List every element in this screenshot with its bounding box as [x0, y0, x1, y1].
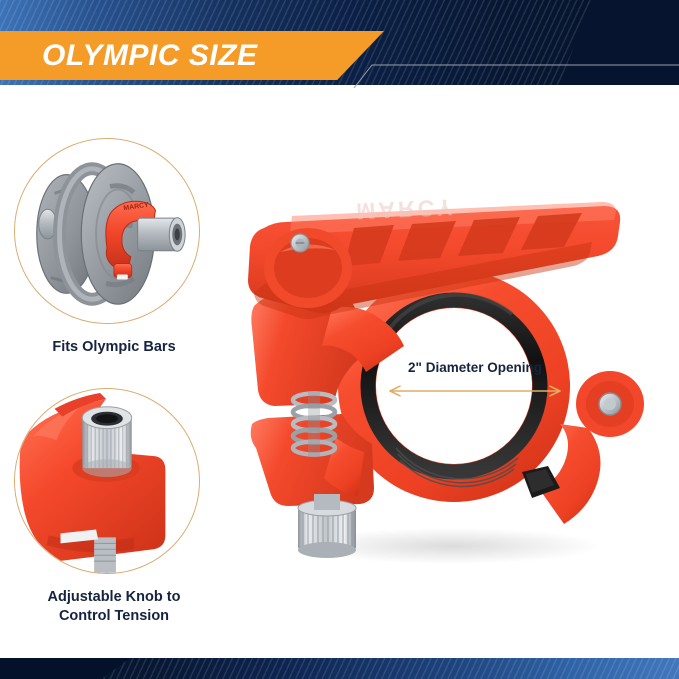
callout-image-1: MARCY: [15, 139, 199, 323]
infographic-page: OLYMPIC SIZE: [0, 0, 679, 679]
callout-2-label: Adjustable Knob to Control Tension: [14, 588, 214, 626]
callout-adjustable-knob: Adjustable Knob to Control Tension: [14, 388, 214, 626]
page-title: OLYMPIC SIZE: [42, 39, 257, 73]
callout-2-label-line1: Adjustable Knob to: [14, 588, 214, 607]
title-banner: OLYMPIC SIZE: [0, 31, 384, 80]
weight-plate-illustration: MARCY: [15, 139, 199, 323]
bottom-decorative-band: [0, 658, 679, 679]
callout-1-label-line1: Fits Olympic Bars: [14, 338, 214, 357]
callout-circle-2: [14, 388, 200, 574]
tension-knob-illustration: [15, 389, 199, 573]
callout-1-label: Fits Olympic Bars: [14, 338, 214, 357]
callout-image-2: [15, 389, 199, 573]
product-brand-text: MARCY: [356, 194, 456, 224]
callout-circle-1: MARCY: [14, 138, 200, 324]
callout-2-label-line2: Control Tension: [14, 607, 214, 626]
product-image-barbell-clamp: MARCY MARCY: [236, 176, 656, 566]
callout-fits-olympic-bars: MARCY Fits Olympic Bars: [14, 138, 214, 357]
